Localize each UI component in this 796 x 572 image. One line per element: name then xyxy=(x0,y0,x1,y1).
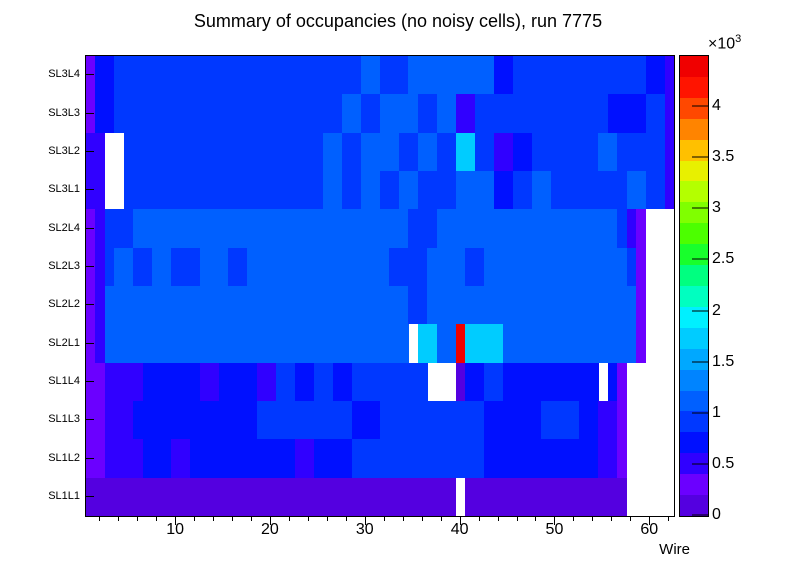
heatmap-cell[interactable] xyxy=(399,133,409,171)
heatmap-cell[interactable] xyxy=(162,401,172,439)
heatmap-cell[interactable] xyxy=(655,171,665,209)
heatmap-cell[interactable] xyxy=(589,171,599,209)
heatmap-cell[interactable] xyxy=(579,94,589,132)
heatmap-cell[interactable] xyxy=(465,209,475,247)
heatmap-cell[interactable] xyxy=(522,209,532,247)
heatmap-cell[interactable] xyxy=(162,209,172,247)
heatmap-cell[interactable] xyxy=(228,439,238,477)
heatmap-cell[interactable] xyxy=(143,363,153,401)
heatmap-cell[interactable] xyxy=(408,171,418,209)
heatmap-cell[interactable] xyxy=(427,248,437,286)
heatmap-cell[interactable] xyxy=(257,56,267,94)
heatmap-cell[interactable] xyxy=(399,171,409,209)
heatmap-cell[interactable] xyxy=(162,478,172,516)
heatmap-cell[interactable] xyxy=(105,363,115,401)
heatmap-cell[interactable] xyxy=(484,401,494,439)
heatmap-cell[interactable] xyxy=(266,94,276,132)
heatmap-cell[interactable] xyxy=(446,133,456,171)
heatmap-cell[interactable] xyxy=(570,171,580,209)
heatmap-cell[interactable] xyxy=(228,248,238,286)
heatmap-cell[interactable] xyxy=(200,209,210,247)
heatmap-cell[interactable] xyxy=(171,363,181,401)
heatmap-cell[interactable] xyxy=(522,478,532,516)
heatmap-cell[interactable] xyxy=(276,324,286,362)
heatmap-cell[interactable] xyxy=(408,439,418,477)
heatmap-cell[interactable] xyxy=(456,286,466,324)
heatmap-cell[interactable] xyxy=(209,401,219,439)
heatmap-cell[interactable] xyxy=(598,286,608,324)
heatmap-cell[interactable] xyxy=(532,478,542,516)
heatmap-cell[interactable] xyxy=(304,363,314,401)
heatmap-cell[interactable] xyxy=(541,94,551,132)
heatmap-cell[interactable] xyxy=(551,133,561,171)
heatmap-cell[interactable] xyxy=(219,363,229,401)
heatmap-cell[interactable] xyxy=(114,363,124,401)
heatmap-cell[interactable] xyxy=(228,324,238,362)
heatmap-cell[interactable] xyxy=(446,286,456,324)
heatmap-cell[interactable] xyxy=(475,133,485,171)
heatmap-cell[interactable] xyxy=(655,94,665,132)
heatmap-cell[interactable] xyxy=(228,56,238,94)
heatmap-cell[interactable] xyxy=(143,209,153,247)
heatmap-cell[interactable] xyxy=(570,401,580,439)
heatmap-cell[interactable] xyxy=(133,478,143,516)
heatmap-cell[interactable] xyxy=(361,133,371,171)
heatmap-cell[interactable] xyxy=(503,171,513,209)
heatmap-cell[interactable] xyxy=(352,478,362,516)
heatmap-cell[interactable] xyxy=(617,363,627,401)
heatmap-cell[interactable] xyxy=(181,439,191,477)
heatmap-cell[interactable] xyxy=(617,94,627,132)
heatmap-cell[interactable] xyxy=(209,363,219,401)
heatmap-cell[interactable] xyxy=(333,94,343,132)
heatmap-cell[interactable] xyxy=(247,171,257,209)
heatmap-cell[interactable] xyxy=(371,478,381,516)
heatmap-cell[interactable] xyxy=(342,478,352,516)
heatmap-cell[interactable] xyxy=(285,439,295,477)
heatmap-cell[interactable] xyxy=(437,209,447,247)
heatmap-cell[interactable] xyxy=(494,133,504,171)
heatmap-cell[interactable] xyxy=(380,133,390,171)
heatmap-cell[interactable] xyxy=(636,248,646,286)
heatmap-cell[interactable] xyxy=(162,363,172,401)
heatmap-cell[interactable] xyxy=(589,133,599,171)
heatmap-cell[interactable] xyxy=(503,94,513,132)
heatmap-cell[interactable] xyxy=(228,478,238,516)
heatmap-cell[interactable] xyxy=(209,248,219,286)
heatmap-cell[interactable] xyxy=(551,171,561,209)
heatmap-cell[interactable] xyxy=(465,248,475,286)
heatmap-cell[interactable] xyxy=(333,248,343,286)
heatmap-cell[interactable] xyxy=(314,363,324,401)
heatmap-cell[interactable] xyxy=(437,171,447,209)
heatmap-cell[interactable] xyxy=(323,94,333,132)
heatmap-cell[interactable] xyxy=(276,56,286,94)
heatmap-cell[interactable] xyxy=(636,209,646,247)
heatmap-cell[interactable] xyxy=(342,133,352,171)
heatmap-cell[interactable] xyxy=(143,94,153,132)
heatmap-cell[interactable] xyxy=(465,171,475,209)
heatmap-cell[interactable] xyxy=(427,478,437,516)
heatmap-cell[interactable] xyxy=(238,248,248,286)
heatmap-cell[interactable] xyxy=(323,478,333,516)
heatmap-cell[interactable] xyxy=(247,286,257,324)
heatmap-cell[interactable] xyxy=(475,56,485,94)
heatmap-cell[interactable] xyxy=(247,478,257,516)
heatmap-cell[interactable] xyxy=(570,133,580,171)
heatmap-cell[interactable] xyxy=(589,94,599,132)
heatmap-cell[interactable] xyxy=(285,171,295,209)
heatmap-cell[interactable] xyxy=(342,209,352,247)
heatmap-cell[interactable] xyxy=(598,209,608,247)
heatmap-cell[interactable] xyxy=(162,56,172,94)
heatmap-cell[interactable] xyxy=(532,324,542,362)
heatmap-cell[interactable] xyxy=(475,209,485,247)
heatmap-cell[interactable] xyxy=(598,324,608,362)
heatmap-cell[interactable] xyxy=(560,363,570,401)
heatmap-cell[interactable] xyxy=(418,401,428,439)
heatmap-cell[interactable] xyxy=(380,94,390,132)
heatmap-cell[interactable] xyxy=(133,209,143,247)
heatmap-cell[interactable] xyxy=(209,324,219,362)
heatmap-cell[interactable] xyxy=(589,478,599,516)
heatmap-cell[interactable] xyxy=(522,363,532,401)
heatmap-cell[interactable] xyxy=(475,401,485,439)
heatmap-cell[interactable] xyxy=(532,439,542,477)
heatmap-cell[interactable] xyxy=(266,56,276,94)
heatmap-cell[interactable] xyxy=(427,94,437,132)
heatmap-cell[interactable] xyxy=(171,56,181,94)
color-bar[interactable] xyxy=(679,55,709,517)
heatmap-cell[interactable] xyxy=(295,56,305,94)
heatmap-cell[interactable] xyxy=(541,324,551,362)
heatmap-cell[interactable] xyxy=(484,133,494,171)
heatmap-cell[interactable] xyxy=(380,209,390,247)
heatmap-cell[interactable] xyxy=(560,401,570,439)
heatmap-cell[interactable] xyxy=(522,324,532,362)
heatmap-cell[interactable] xyxy=(323,56,333,94)
heatmap-cell[interactable] xyxy=(295,94,305,132)
heatmap-cell[interactable] xyxy=(437,133,447,171)
heatmap-cell[interactable] xyxy=(247,209,257,247)
heatmap-cell[interactable] xyxy=(513,478,523,516)
heatmap-cell[interactable] xyxy=(124,133,134,171)
heatmap-cell[interactable] xyxy=(665,133,674,171)
heatmap-cell[interactable] xyxy=(437,94,447,132)
heatmap-cell[interactable] xyxy=(143,478,153,516)
heatmap-cell[interactable] xyxy=(171,401,181,439)
heatmap-cell[interactable] xyxy=(171,133,181,171)
heatmap-cell[interactable] xyxy=(333,478,343,516)
heatmap-cell[interactable] xyxy=(200,56,210,94)
heatmap-cell[interactable] xyxy=(352,171,362,209)
heatmap-cell[interactable] xyxy=(304,478,314,516)
heatmap-cell[interactable] xyxy=(446,248,456,286)
heatmap-cell[interactable] xyxy=(608,171,618,209)
heatmap-cell[interactable] xyxy=(124,286,134,324)
heatmap-cell[interactable] xyxy=(114,248,124,286)
heatmap-cell[interactable] xyxy=(200,324,210,362)
heatmap-cell[interactable] xyxy=(465,401,475,439)
heatmap-cell[interactable] xyxy=(598,401,608,439)
heatmap-cell[interactable] xyxy=(86,94,96,132)
heatmap-cell[interactable] xyxy=(190,401,200,439)
heatmap-cell[interactable] xyxy=(456,56,466,94)
heatmap-cell[interactable] xyxy=(257,248,267,286)
heatmap-cell[interactable] xyxy=(209,133,219,171)
heatmap-cell[interactable] xyxy=(314,286,324,324)
heatmap-cell[interactable] xyxy=(105,401,115,439)
heatmap-cell[interactable] xyxy=(181,94,191,132)
heatmap-cell[interactable] xyxy=(181,401,191,439)
heatmap-cell[interactable] xyxy=(418,56,428,94)
heatmap-cell[interactable] xyxy=(522,133,532,171)
heatmap-cell[interactable] xyxy=(503,248,513,286)
heatmap-cell[interactable] xyxy=(304,56,314,94)
heatmap-cell[interactable] xyxy=(665,56,674,94)
heatmap-cell[interactable] xyxy=(608,363,618,401)
heatmap-cell[interactable] xyxy=(257,286,267,324)
heatmap-cell[interactable] xyxy=(494,209,504,247)
heatmap-cell[interactable] xyxy=(295,324,305,362)
heatmap-cell[interactable] xyxy=(361,56,371,94)
heatmap-cell[interactable] xyxy=(352,94,362,132)
heatmap-cell[interactable] xyxy=(446,401,456,439)
heatmap-cell[interactable] xyxy=(238,401,248,439)
heatmap-cell[interactable] xyxy=(399,439,409,477)
heatmap-cell[interactable] xyxy=(484,286,494,324)
heatmap-cell[interactable] xyxy=(399,324,409,362)
heatmap-cell[interactable] xyxy=(342,286,352,324)
heatmap-cell[interactable] xyxy=(522,286,532,324)
heatmap-cell[interactable] xyxy=(133,171,143,209)
heatmap-cell[interactable] xyxy=(323,286,333,324)
heatmap-cell[interactable] xyxy=(228,401,238,439)
heatmap-cell[interactable] xyxy=(389,248,399,286)
heatmap-cell[interactable] xyxy=(352,439,362,477)
heatmap-cell[interactable] xyxy=(371,401,381,439)
heatmap-cell[interactable] xyxy=(276,363,286,401)
heatmap-cell[interactable] xyxy=(152,94,162,132)
heatmap-cell[interactable] xyxy=(636,56,646,94)
heatmap-cell[interactable] xyxy=(389,94,399,132)
heatmap-cell[interactable] xyxy=(171,94,181,132)
heatmap-cell[interactable] xyxy=(285,248,295,286)
heatmap-cell[interactable] xyxy=(124,171,134,209)
heatmap-cell[interactable] xyxy=(627,133,637,171)
heatmap-cell[interactable] xyxy=(266,209,276,247)
heatmap-cell[interactable] xyxy=(617,133,627,171)
heatmap-cell[interactable] xyxy=(437,56,447,94)
heatmap-cell[interactable] xyxy=(276,248,286,286)
heatmap-cell[interactable] xyxy=(560,324,570,362)
heatmap-cell[interactable] xyxy=(427,439,437,477)
heatmap-cell[interactable] xyxy=(627,286,637,324)
heatmap-cell[interactable] xyxy=(408,401,418,439)
heatmap-cell[interactable] xyxy=(86,286,96,324)
heatmap-cell[interactable] xyxy=(361,286,371,324)
heatmap-cell[interactable] xyxy=(171,248,181,286)
heatmap-cell[interactable] xyxy=(503,56,513,94)
plot-frame[interactable] xyxy=(85,55,675,517)
heatmap-cell[interactable] xyxy=(266,286,276,324)
heatmap-cell[interactable] xyxy=(371,56,381,94)
heatmap-cell[interactable] xyxy=(171,324,181,362)
heatmap-cell[interactable] xyxy=(551,401,561,439)
heatmap-cell[interactable] xyxy=(361,439,371,477)
heatmap-cell[interactable] xyxy=(304,401,314,439)
heatmap-cell[interactable] xyxy=(513,56,523,94)
heatmap-cell[interactable] xyxy=(333,56,343,94)
heatmap-cell[interactable] xyxy=(551,56,561,94)
heatmap-cell[interactable] xyxy=(371,286,381,324)
heatmap-cell[interactable] xyxy=(589,439,599,477)
heatmap-cell[interactable] xyxy=(380,171,390,209)
heatmap-cell[interactable] xyxy=(95,94,105,132)
heatmap-cell[interactable] xyxy=(560,209,570,247)
heatmap-cell[interactable] xyxy=(181,478,191,516)
heatmap-cell[interactable] xyxy=(333,324,343,362)
heatmap-cell[interactable] xyxy=(162,439,172,477)
heatmap-cell[interactable] xyxy=(371,324,381,362)
heatmap-cell[interactable] xyxy=(228,133,238,171)
heatmap-cell[interactable] xyxy=(560,171,570,209)
heatmap-cell[interactable] xyxy=(465,133,475,171)
heatmap-cell[interactable] xyxy=(522,171,532,209)
heatmap-cell[interactable] xyxy=(266,248,276,286)
heatmap-cell[interactable] xyxy=(238,324,248,362)
heatmap-cell[interactable] xyxy=(560,94,570,132)
heatmap-cell[interactable] xyxy=(209,478,219,516)
heatmap-cell[interactable] xyxy=(86,133,96,171)
heatmap-cell[interactable] xyxy=(162,133,172,171)
heatmap-cell[interactable] xyxy=(247,401,257,439)
heatmap-cell[interactable] xyxy=(570,94,580,132)
heatmap-cell[interactable] xyxy=(209,439,219,477)
heatmap-cell[interactable] xyxy=(200,401,210,439)
heatmap-cell[interactable] xyxy=(427,133,437,171)
heatmap-cell[interactable] xyxy=(570,286,580,324)
heatmap-cell[interactable] xyxy=(465,439,475,477)
heatmap-cell[interactable] xyxy=(361,324,371,362)
heatmap-cell[interactable] xyxy=(133,324,143,362)
heatmap-cell[interactable] xyxy=(285,56,295,94)
heatmap-cell[interactable] xyxy=(532,171,542,209)
heatmap-cell[interactable] xyxy=(551,94,561,132)
heatmap-cell[interactable] xyxy=(257,324,267,362)
heatmap-cell[interactable] xyxy=(380,56,390,94)
heatmap-cell[interactable] xyxy=(352,286,362,324)
heatmap-cell[interactable] xyxy=(627,324,637,362)
heatmap-cell[interactable] xyxy=(295,439,305,477)
heatmap-cell[interactable] xyxy=(342,401,352,439)
heatmap-cell[interactable] xyxy=(352,133,362,171)
heatmap-cell[interactable] xyxy=(152,324,162,362)
heatmap-cell[interactable] xyxy=(133,56,143,94)
heatmap-cell[interactable] xyxy=(522,439,532,477)
heatmap-cell[interactable] xyxy=(532,133,542,171)
heatmap-cell[interactable] xyxy=(475,478,485,516)
heatmap-cell[interactable] xyxy=(295,286,305,324)
heatmap-cell[interactable] xyxy=(276,133,286,171)
heatmap-cell[interactable] xyxy=(314,171,324,209)
heatmap-cell[interactable] xyxy=(276,286,286,324)
heatmap-cell[interactable] xyxy=(608,478,618,516)
heatmap-cell[interactable] xyxy=(399,209,409,247)
heatmap-cell[interactable] xyxy=(285,324,295,362)
heatmap-cell[interactable] xyxy=(598,56,608,94)
heatmap-cell[interactable] xyxy=(257,363,267,401)
heatmap-cell[interactable] xyxy=(323,439,333,477)
heatmap-cell[interactable] xyxy=(124,56,134,94)
heatmap-cell[interactable] xyxy=(181,209,191,247)
heatmap-cell[interactable] xyxy=(617,209,627,247)
heatmap-cell[interactable] xyxy=(522,248,532,286)
heatmap-cell[interactable] xyxy=(314,478,324,516)
heatmap-cell[interactable] xyxy=(456,439,466,477)
heatmap-cell[interactable] xyxy=(200,94,210,132)
heatmap-cell[interactable] xyxy=(646,171,656,209)
heatmap-cell[interactable] xyxy=(541,171,551,209)
heatmap-cell[interactable] xyxy=(494,248,504,286)
heatmap-cell[interactable] xyxy=(513,94,523,132)
heatmap-cell[interactable] xyxy=(247,94,257,132)
heatmap-cell[interactable] xyxy=(209,209,219,247)
heatmap-cell[interactable] xyxy=(219,439,229,477)
heatmap-cell[interactable] xyxy=(333,363,343,401)
heatmap-cell[interactable] xyxy=(408,363,418,401)
heatmap-cell[interactable] xyxy=(266,401,276,439)
heatmap-cell[interactable] xyxy=(579,439,589,477)
heatmap-cell[interactable] xyxy=(437,286,447,324)
heatmap-cell[interactable] xyxy=(579,209,589,247)
heatmap-cell[interactable] xyxy=(219,56,229,94)
heatmap-cell[interactable] xyxy=(171,439,181,477)
heatmap-cell[interactable] xyxy=(323,248,333,286)
heatmap-cell[interactable] xyxy=(465,56,475,94)
heatmap-cell[interactable] xyxy=(361,248,371,286)
heatmap-cell[interactable] xyxy=(589,286,599,324)
heatmap-cell[interactable] xyxy=(494,401,504,439)
heatmap-cell[interactable] xyxy=(427,286,437,324)
heatmap-cell[interactable] xyxy=(418,439,428,477)
heatmap-cell[interactable] xyxy=(114,56,124,94)
heatmap-cell[interactable] xyxy=(228,286,238,324)
heatmap-cell[interactable] xyxy=(551,209,561,247)
heatmap-cell[interactable] xyxy=(133,401,143,439)
heatmap-cell[interactable] xyxy=(608,248,618,286)
heatmap-cell[interactable] xyxy=(570,439,580,477)
heatmap-cell[interactable] xyxy=(247,248,257,286)
heatmap-cell[interactable] xyxy=(86,363,96,401)
heatmap-cell[interactable] xyxy=(465,94,475,132)
heatmap-cell[interactable] xyxy=(446,94,456,132)
heatmap-cell[interactable] xyxy=(247,439,257,477)
heatmap-cell[interactable] xyxy=(494,363,504,401)
heatmap-cell[interactable] xyxy=(238,133,248,171)
heatmap-cell[interactable] xyxy=(446,209,456,247)
heatmap-cell[interactable] xyxy=(342,248,352,286)
heatmap-cell[interactable] xyxy=(314,133,324,171)
heatmap-cell[interactable] xyxy=(636,171,646,209)
heatmap-cell[interactable] xyxy=(323,363,333,401)
heatmap-cell[interactable] xyxy=(418,133,428,171)
heatmap-cell[interactable] xyxy=(95,56,105,94)
heatmap-cell[interactable] xyxy=(114,439,124,477)
heatmap-cell[interactable] xyxy=(399,286,409,324)
heatmap-cell[interactable] xyxy=(304,209,314,247)
heatmap-cell[interactable] xyxy=(494,478,504,516)
